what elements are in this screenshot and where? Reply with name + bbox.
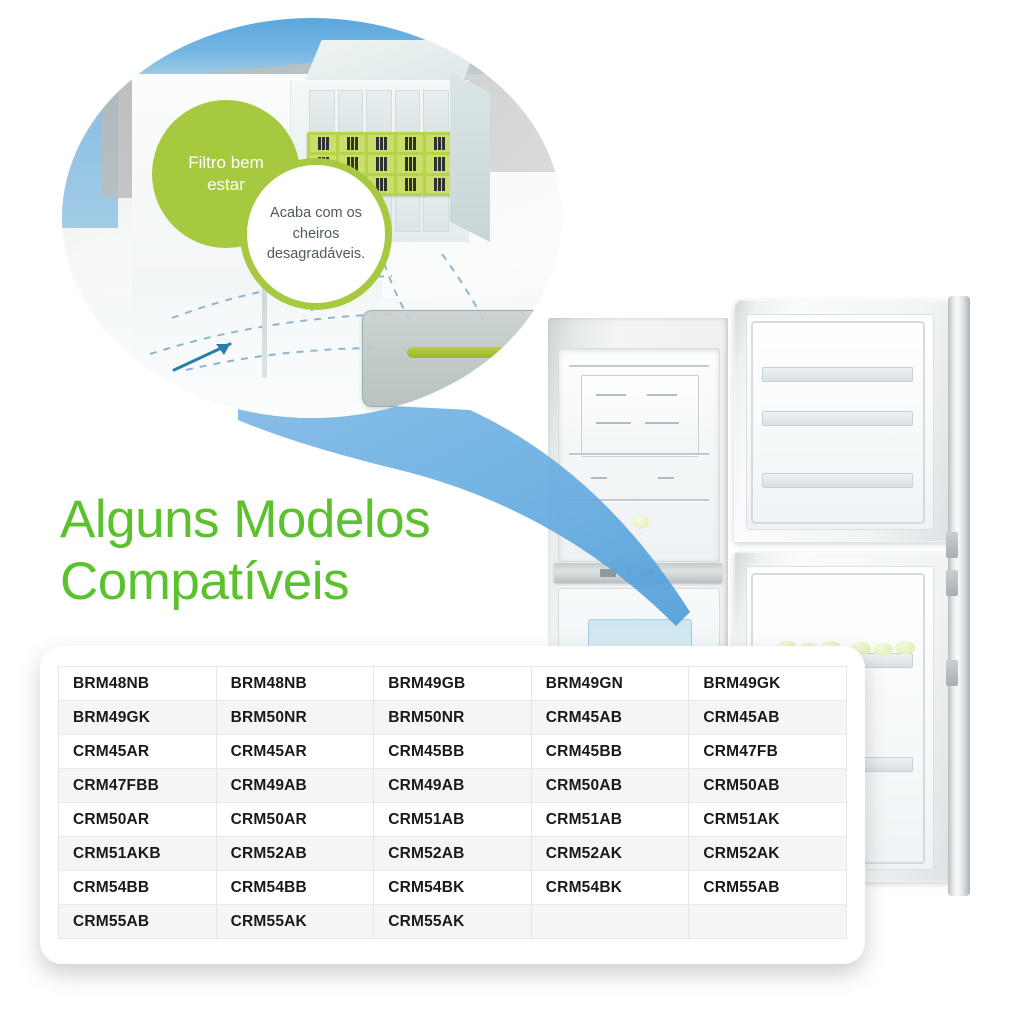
model-cell: CRM51AK — [689, 803, 847, 837]
model-cell: CRM55AK — [216, 905, 374, 939]
door-rack — [762, 367, 913, 382]
model-cell: CRM51AKB — [59, 837, 217, 871]
model-cell: BRM49GK — [59, 701, 217, 735]
page-title-line1: Alguns Modelos — [60, 489, 580, 551]
drawer-green-bar — [407, 347, 523, 358]
control-display-icon — [600, 569, 616, 577]
model-cell: BRM48NB — [59, 667, 217, 701]
model-cell: CRM51AB — [531, 803, 689, 837]
model-cell: CRM52AK — [531, 837, 689, 871]
door-hinge — [946, 532, 958, 558]
filter-description-text: Acaba com os cheiros desagradáveis. — [259, 203, 373, 265]
model-cell: CRM50AB — [689, 769, 847, 803]
model-cell: CRM50AR — [59, 803, 217, 837]
model-cell: CRM45AB — [689, 701, 847, 735]
table-row: CRM54BBCRM54BBCRM54BKCRM54BKCRM55AB — [59, 871, 847, 905]
door-hinge — [946, 570, 958, 596]
door-rack — [762, 473, 913, 488]
shelf — [569, 499, 710, 501]
table-row: CRM50ARCRM50ARCRM51ABCRM51ABCRM51AK — [59, 803, 847, 837]
table-row: CRM47FBBCRM49ABCRM49ABCRM50ABCRM50AB — [59, 769, 847, 803]
model-cell: CRM52AB — [374, 837, 532, 871]
model-cell: CRM49AB — [374, 769, 532, 803]
compatible-models-card: BRM48NBBRM48NBBRM49GBBRM49GNBRM49GKBRM49… — [40, 646, 865, 964]
model-cell: BRM50NR — [216, 701, 374, 735]
table-row: CRM55ABCRM55AKCRM55AK — [59, 905, 847, 939]
crisper-drawer — [362, 310, 562, 407]
model-cell: CRM50AR — [216, 803, 374, 837]
vent-line — [645, 422, 680, 424]
produce-item — [895, 641, 915, 654]
model-cell: CRM45BB — [531, 735, 689, 769]
model-cell-empty — [531, 905, 689, 939]
model-cell: CRM45AR — [216, 735, 374, 769]
compatible-models-table: BRM48NBBRM48NBBRM49GBBRM49GNBRM49GKBRM49… — [58, 666, 847, 939]
table-row: CRM51AKBCRM52ABCRM52ABCRM52AKCRM52AK — [59, 837, 847, 871]
model-cell: CRM54BK — [531, 871, 689, 905]
interior-lamp — [633, 515, 649, 529]
model-cell: CRM47FBB — [59, 769, 217, 803]
model-cell: CRM54BK — [374, 871, 532, 905]
vent-line — [658, 477, 674, 479]
model-cell: BRM49GB — [374, 667, 532, 701]
fridge-right-edge — [948, 296, 970, 896]
door-rack — [762, 411, 913, 426]
page-title: Alguns Modelos Compatíveis — [60, 489, 580, 613]
table-row: BRM48NBBRM48NBBRM49GBBRM49GNBRM49GK — [59, 667, 847, 701]
model-cell: BRM49GN — [531, 667, 689, 701]
filter-description-badge: Acaba com os cheiros desagradáveis. — [240, 158, 392, 310]
filter-callout-bubble: Filtro bem estar Acaba com os cheiros de… — [62, 18, 642, 478]
filter-housing-side — [450, 72, 490, 242]
model-cell: CRM55AK — [374, 905, 532, 939]
model-cell: CRM54BB — [59, 871, 217, 905]
model-cell: CRM51AB — [374, 803, 532, 837]
model-cell: BRM48NB — [216, 667, 374, 701]
control-knob-icon — [626, 570, 631, 575]
model-cell: CRM52AB — [216, 837, 374, 871]
door-hinge — [946, 660, 958, 686]
model-cell: CRM49AB — [216, 769, 374, 803]
control-button-icon — [640, 569, 654, 576]
model-cell: CRM45BB — [374, 735, 532, 769]
model-cell: CRM55AB — [59, 905, 217, 939]
model-cell: CRM52AK — [689, 837, 847, 871]
model-cell: BRM49GK — [689, 667, 847, 701]
table-row: CRM45ARCRM45ARCRM45BBCRM45BBCRM47FB — [59, 735, 847, 769]
model-cell: CRM45AR — [59, 735, 217, 769]
model-cell-empty — [689, 905, 847, 939]
model-cell: CRM54BB — [216, 871, 374, 905]
vent-line — [647, 394, 677, 396]
model-cell: CRM45AB — [531, 701, 689, 735]
model-cell: CRM50AB — [531, 769, 689, 803]
model-cell: CRM55AB — [689, 871, 847, 905]
table-row: BRM49GKBRM50NRBRM50NRCRM45ABCRM45AB — [59, 701, 847, 735]
model-cell: BRM50NR — [374, 701, 532, 735]
door-inner-panel — [746, 314, 934, 530]
produce-item — [873, 643, 893, 656]
infographic-canvas: Filtro bem estar Acaba com os cheiros de… — [0, 0, 1024, 1024]
model-cell: CRM47FB — [689, 735, 847, 769]
page-title-line2: Compatíveis — [60, 551, 580, 613]
fridge-upper-door — [734, 300, 952, 542]
